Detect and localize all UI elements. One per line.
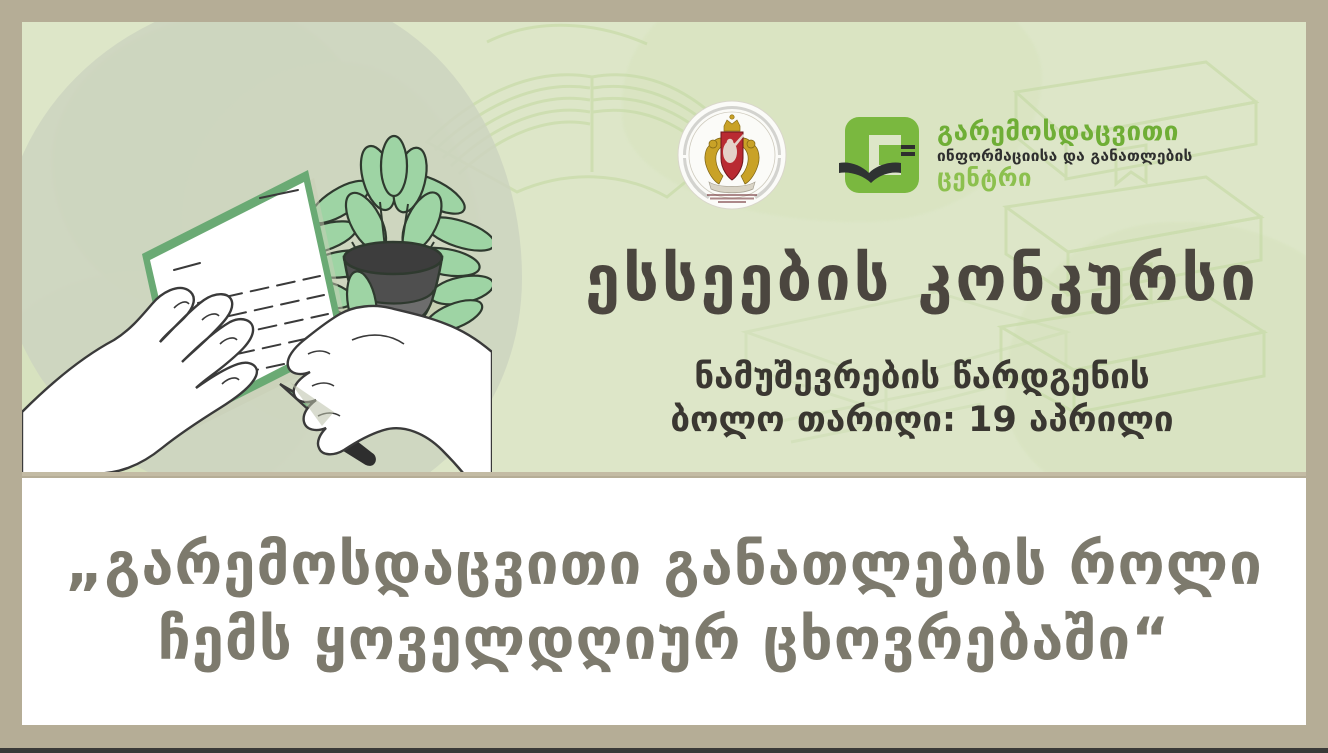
green-panel: გარემოსდაცვითი ინფორმაციისა და განათლები… bbox=[22, 22, 1306, 474]
panel-divider bbox=[22, 472, 1306, 476]
headline: ესსეების კონკურსი bbox=[522, 247, 1306, 310]
eiec-logo-line2: ინფორმაციისა და განათლების bbox=[937, 148, 1193, 164]
eiec-book-mark-icon bbox=[839, 111, 927, 199]
essay-topic-line1: „გარემოსდაცვითი განათლების როლი bbox=[65, 527, 1263, 601]
eiec-logo-text: გარემოსდაცვითი ინფორმაციისა და განათლები… bbox=[937, 119, 1193, 191]
essay-topic-line2: ჩემს ყოველდღიურ ცხოვრებაში“ bbox=[158, 602, 1171, 676]
eiec-logo-line3: ცენტრი bbox=[937, 166, 1193, 191]
writing-illustration bbox=[22, 82, 492, 474]
essay-topic-banner: „გარემოსდაცვითი განათლების როლი ჩემს ყოვ… bbox=[22, 478, 1306, 725]
right-hand-holding-pen bbox=[288, 306, 492, 474]
eiec-logo-line1: გარემოსდაცვითი bbox=[937, 119, 1193, 146]
ministry-seal-icon bbox=[677, 100, 787, 210]
eiec-logo: გარემოსდაცვითი ინფორმაციისა და განათლები… bbox=[839, 111, 1193, 199]
logo-row: გარემოსდაცვითი ინფორმაციისა და განათლები… bbox=[677, 100, 1193, 210]
left-hand bbox=[22, 288, 257, 474]
subheadline-line2: ბოლო თარიღი: 19 აპრილი bbox=[522, 399, 1306, 442]
subheadline: ნამუშევრების წარდგენის ბოლო თარიღი: 19 ა… bbox=[522, 356, 1306, 441]
poster-root: გარემოსდაცვითი ინფორმაციისა და განათლები… bbox=[0, 0, 1328, 753]
subheadline-line1: ნამუშევრების წარდგენის bbox=[522, 356, 1306, 399]
bottom-edge bbox=[0, 748, 1328, 753]
